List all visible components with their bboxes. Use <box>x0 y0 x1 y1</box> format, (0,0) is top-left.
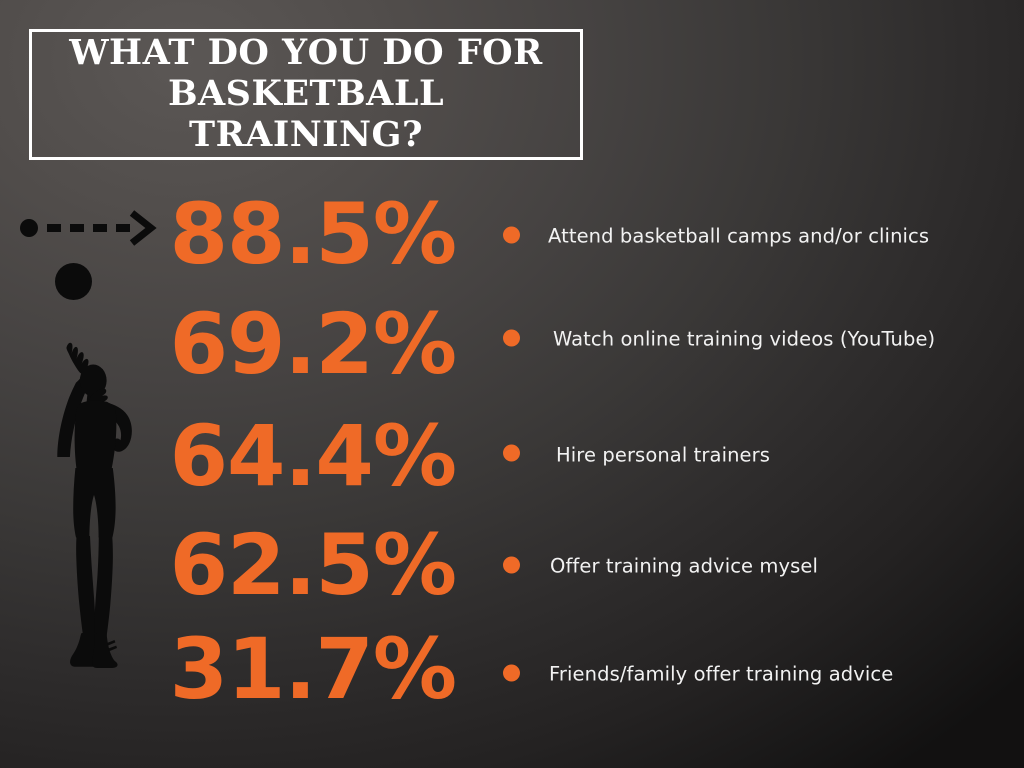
stat-label: Friends/family offer training advice <box>549 662 893 685</box>
stat-percentage: 88.5% <box>170 195 456 275</box>
bullet-dot-icon <box>503 445 520 462</box>
stat-label: Hire personal trainers <box>556 443 770 466</box>
infographic-slide: WHAT DO YOU DO FOR BASKETBALL TRAINING? <box>0 0 1024 768</box>
stats-list: 88.5% Attend basketball camps and/or cli… <box>0 0 1024 768</box>
stat-label: Attend basketball camps and/or clinics <box>548 224 929 247</box>
stat-percentage: 31.7% <box>170 630 456 710</box>
bullet-dot-icon <box>503 665 520 682</box>
stat-percentage: 69.2% <box>170 305 456 385</box>
bullet-dot-icon <box>503 227 520 244</box>
stat-percentage: 62.5% <box>170 526 456 606</box>
bullet-dot-icon <box>503 557 520 574</box>
stat-percentage: 64.4% <box>170 417 456 497</box>
bullet-dot-icon <box>503 330 520 347</box>
stat-label: Watch online training videos (YouTube) <box>553 327 935 350</box>
stat-label: Offer training advice mysel <box>550 554 818 577</box>
